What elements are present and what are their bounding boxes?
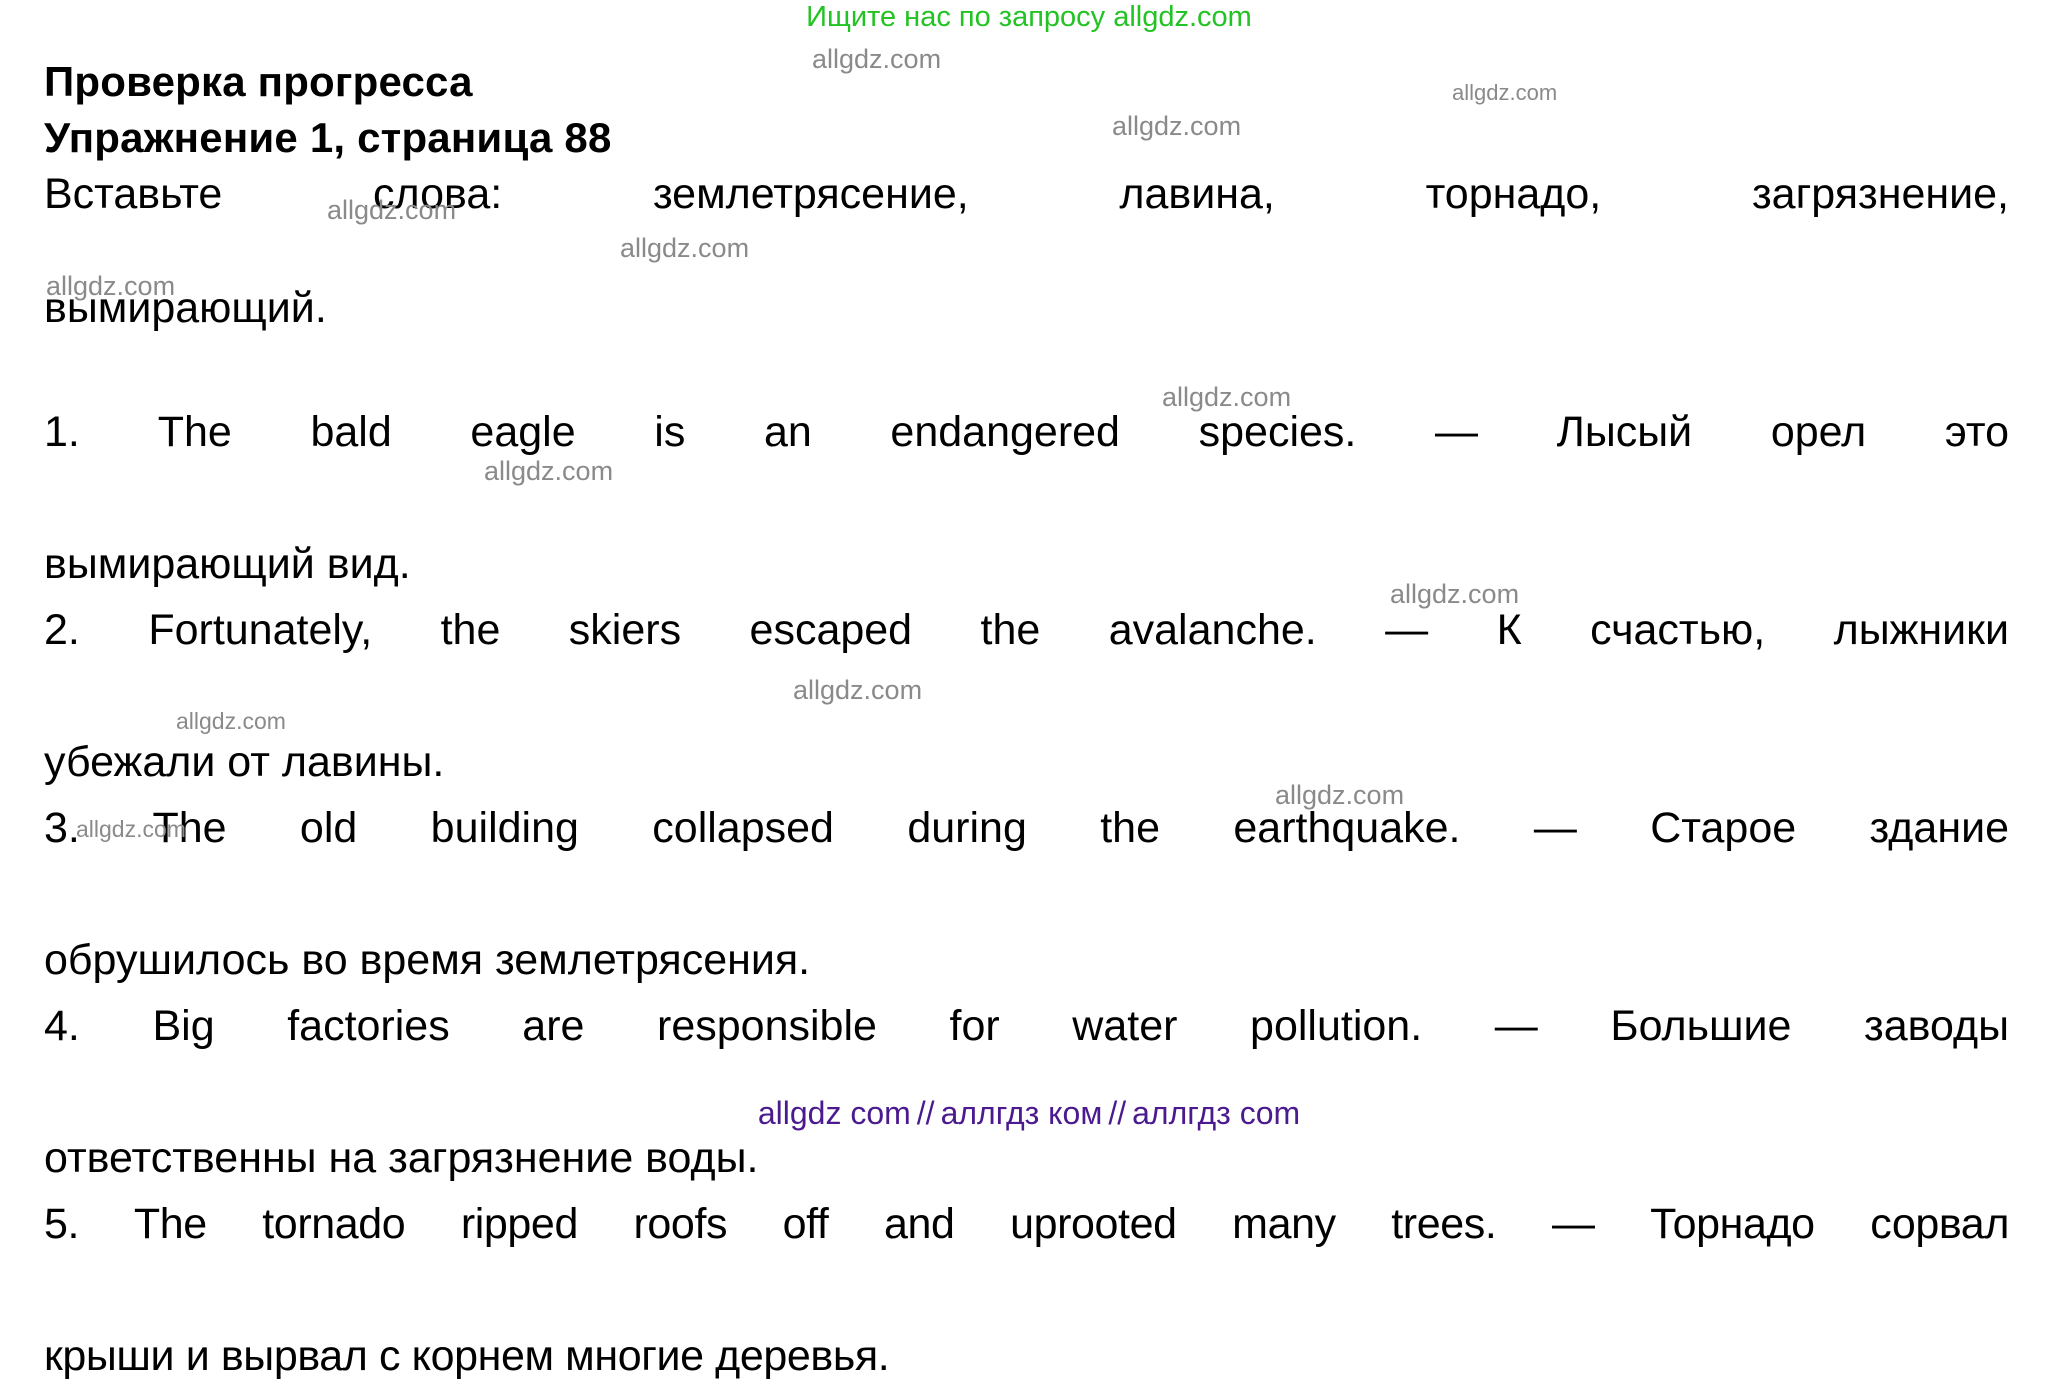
page-title-line-2: Упражнение 1, страница 88 [44, 110, 2009, 166]
exercise-item-4-line-2: ответственны на загрязнение воды. [44, 1125, 2009, 1191]
exercise-item-3-line-1: 3. The old building collapsed during the… [44, 795, 2009, 927]
item-dash: — [1552, 1200, 1595, 1248]
instruction-line-1: Вставьте слова: землетрясение, лавина, т… [44, 166, 2009, 280]
exercise-item-5-line-2: крыши и вырвал с корнем многие деревья. [44, 1323, 2009, 1389]
page-title-line-1: Проверка прогресса [44, 54, 2009, 110]
exercise-item-5: 5. The tornado ripped roofs off and upro… [44, 1191, 2009, 1389]
item-english: The bald eagle is an endangered species. [158, 408, 1357, 456]
item-russian: Лысый орел это [1557, 408, 2009, 456]
item-dash: — [1534, 804, 1577, 852]
item-english: Fortunately, the skiers escaped the aval… [148, 606, 1316, 654]
promo-banner: Ищите нас по запросу allgdz.com [0, 0, 2058, 34]
instruction-text: Вставьте слова: землетрясение, лавина, т… [44, 166, 2009, 337]
exercise-item-2-line-1: 2. Fortunately, the skiers escaped the a… [44, 597, 2009, 729]
exercise-item-2: 2. Fortunately, the skiers escaped the a… [44, 597, 2009, 795]
exercise-item-5-line-1: 5. The tornado ripped roofs off and upro… [44, 1191, 2009, 1323]
document-body: Проверка прогресса Упражнение 1, страниц… [44, 54, 2009, 1389]
item-english: The old building collapsed during the ea… [152, 804, 1460, 852]
footer-separator-2: // [1102, 1095, 1132, 1131]
footer-part-3: аллгдз com [1132, 1095, 1300, 1131]
footer-part-2: аллгдз ком [941, 1095, 1103, 1131]
exercise-item-1-line-1: 1. The bald eagle is an endangered speci… [44, 399, 2009, 531]
exercise-item-3: 3. The old building collapsed during the… [44, 795, 2009, 993]
exercise-item-1: 1. The bald eagle is an endangered speci… [44, 399, 2009, 597]
item-number: 1. [44, 408, 80, 456]
footer-links: allgdz com//аллгдз ком//аллгдз com [0, 1093, 2058, 1133]
item-russian: Большие заводы [1610, 1002, 2009, 1050]
item-english: Big factories are responsible for water … [152, 1002, 1422, 1050]
item-number: 5. [44, 1200, 79, 1248]
exercise-item-4: 4. Big factories are responsible for wat… [44, 993, 2009, 1191]
item-russian: Торнадо сорвал [1650, 1200, 2009, 1248]
item-number: 3. [44, 804, 80, 852]
instruction-line-2: вымирающий. [44, 280, 2009, 337]
item-russian: Старое здание [1650, 804, 2009, 852]
item-number: 2. [44, 606, 80, 654]
item-number: 4. [44, 1002, 80, 1050]
document-page: Ищите нас по запросу allgdz.com Проверка… [0, 0, 2058, 1149]
footer-separator-1: // [911, 1095, 941, 1131]
exercise-item-1-line-2: вымирающий вид. [44, 531, 2009, 597]
exercise-item-3-line-2: обрушилось во время землетрясения. [44, 927, 2009, 993]
item-russian: К счастью, лыжники [1497, 606, 2009, 654]
spacer [44, 337, 2009, 399]
exercise-item-2-line-2: убежали от лавины. [44, 729, 2009, 795]
item-dash: — [1385, 606, 1428, 654]
item-dash: — [1435, 408, 1478, 456]
item-dash: — [1495, 1002, 1538, 1050]
item-english: The tornado ripped roofs off and uproote… [134, 1200, 1497, 1248]
footer-part-1: allgdz com [758, 1095, 911, 1131]
